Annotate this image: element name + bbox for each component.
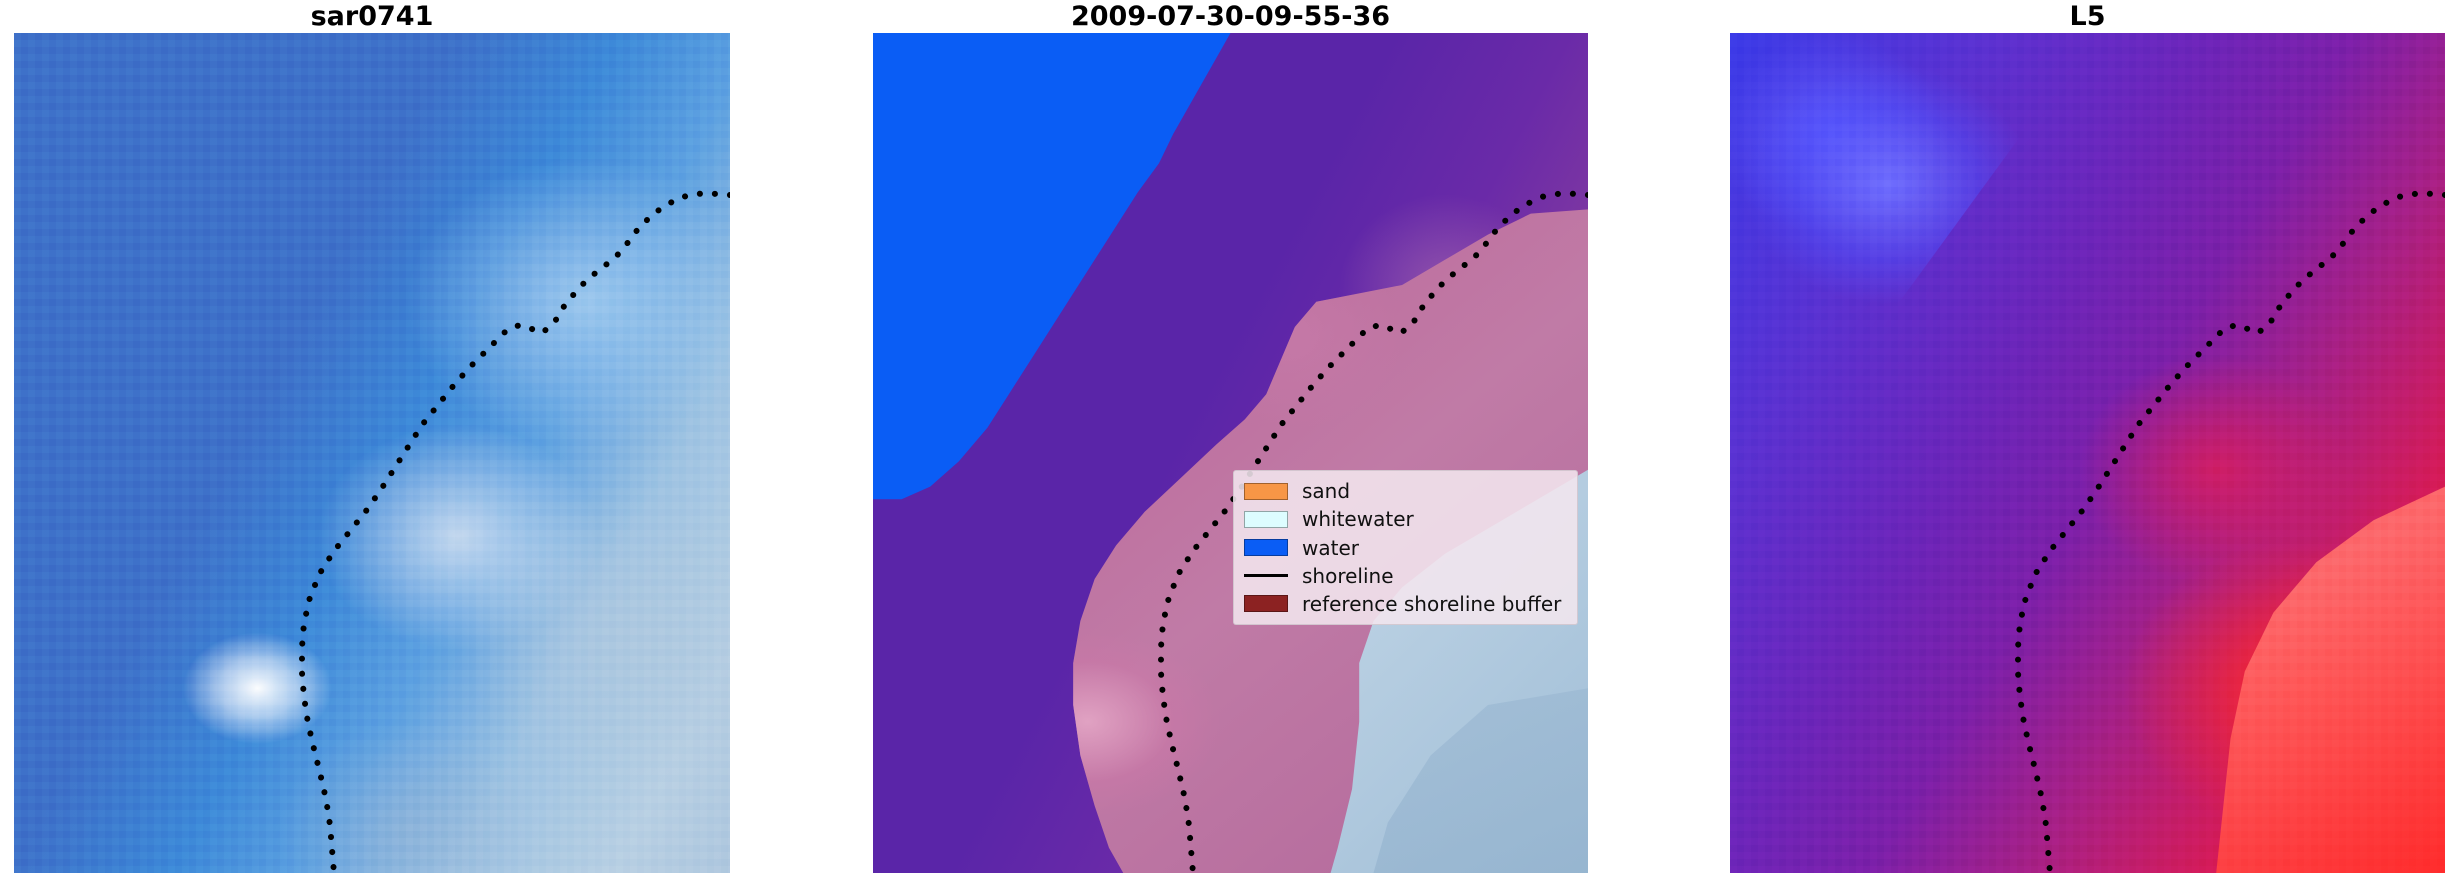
panel-l5: L5: [1730, 0, 2445, 889]
classified-raster-image: [873, 33, 1588, 873]
legend-item-water: water: [1244, 533, 1567, 561]
l5-raster-image: [1730, 33, 2445, 873]
legend-swatch-whitewater: [1244, 511, 1288, 528]
legend-label-water: water: [1302, 536, 1359, 560]
legend-swatch-sand: [1244, 483, 1288, 500]
legend-label-shoreline: shoreline: [1302, 564, 1394, 588]
panel-title-classified: 2009-07-30-09-55-36: [873, 2, 1588, 32]
panel-classified: 2009-07-30-09-55-36: [873, 0, 1588, 889]
panel-title-l5: L5: [1730, 2, 2445, 32]
axes-sar: [14, 33, 730, 873]
axes-classified: [873, 33, 1588, 873]
legend-item-shoreline: shoreline: [1244, 562, 1567, 590]
legend-label-reference-shoreline-buffer: reference shoreline buffer: [1302, 592, 1561, 616]
legend-swatch-shoreline: [1244, 574, 1288, 577]
axes-l5: [1730, 33, 2445, 873]
legend-swatch-water: [1244, 539, 1288, 556]
panel-title-sar: sar0741: [14, 2, 730, 32]
legend-swatch-reference-shoreline-buffer: [1244, 595, 1288, 612]
legend-item-reference-shoreline-buffer: reference shoreline buffer: [1244, 590, 1567, 618]
panel-sar: sar0741: [14, 0, 730, 889]
sar-raster-image: [14, 33, 730, 873]
legend-item-sand: sand: [1244, 477, 1567, 505]
legend-label-whitewater: whitewater: [1302, 507, 1414, 531]
figure-canvas: sar0741 2009-07-30-09-55-36: [0, 0, 2460, 889]
legend-item-whitewater: whitewater: [1244, 505, 1567, 533]
legend-box: sand whitewater water shoreline referenc…: [1233, 470, 1578, 625]
legend-label-sand: sand: [1302, 479, 1350, 503]
